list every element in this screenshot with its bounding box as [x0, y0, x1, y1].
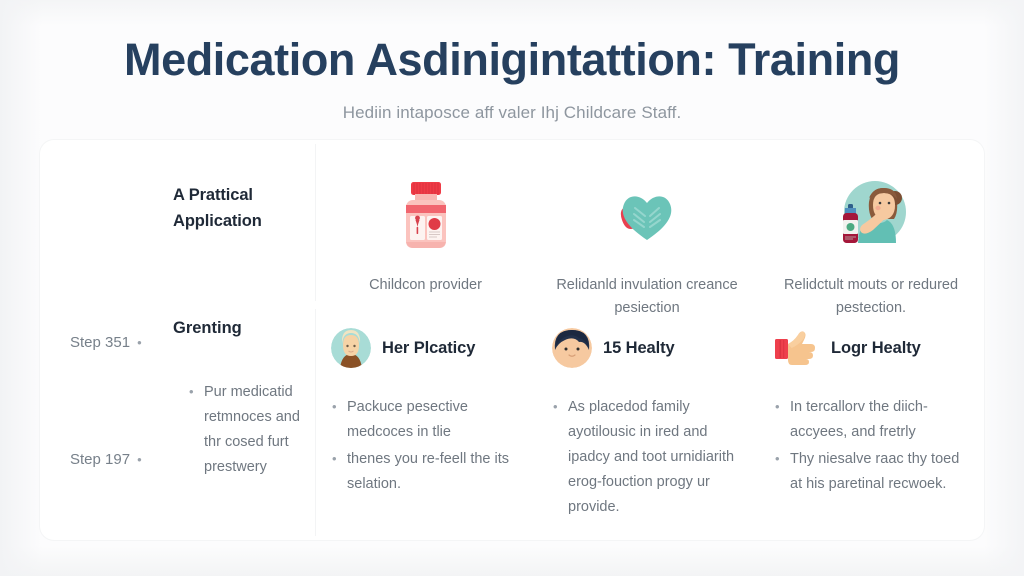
bullet-list-her-plcaticy: Packuce pesective medcoces in tlie thene… [331, 395, 520, 497]
cell-r2c2: Her Plcaticy Packuce pesective medcoces … [315, 305, 536, 540]
cell-r2c3: 15 Healty As placedod family ayotilousic… [536, 305, 758, 540]
dark-hair-child-avatar [552, 328, 592, 368]
cell-r2c4: Logr Healty In tercallorv the diich-accy… [758, 305, 984, 540]
heading-row-15-healty: 15 Healty [552, 327, 742, 369]
cell-r1c3: Relidanld invulation creance pesiection [536, 140, 758, 305]
column-heading-logr-healty: Logr Healty [831, 335, 921, 361]
list-item: Thy niesalve raac thy toed at his pareti… [774, 447, 968, 497]
step-label-top: Step 351 • [70, 331, 142, 355]
step-bullet-dot: • [137, 331, 142, 355]
page-title: Medication Asdinigintattion: Training [0, 30, 1024, 90]
cell-r2c1: Step 351 • Step 197 • Grenting Pur medic… [40, 305, 315, 540]
icon-block-medicine-bottle: Childcon provider [331, 156, 520, 297]
step-label-bottom: Step 197 • [70, 448, 142, 472]
bullet-list-15-healty: As placedod family ayotilousic in ired a… [552, 395, 742, 520]
column-heading-15-healty: 15 Healty [603, 335, 675, 361]
heart-hand-icon [605, 172, 689, 256]
content-grid: A Prattical Application [40, 140, 984, 540]
icon-block-woman-with-bottle: Relidctult mouts or redured pestection. [774, 156, 968, 320]
step-label-top-text: Step 351 [70, 331, 130, 355]
thumbs-up-icon [774, 328, 820, 368]
blond-person-avatar [331, 328, 371, 368]
icon-caption-childcon-provider: Childcon provider [369, 274, 482, 297]
list-item: As placedod family ayotilousic in ired a… [552, 395, 742, 520]
icon-block-heart-hand: Relidanld invulation creance pesiection [552, 156, 742, 320]
list-item: In tercallorv the diich-accyees, and fre… [774, 395, 968, 445]
heading-row-logr-healty: Logr Healty [774, 327, 968, 369]
column-heading-practical-application: A Prattical Application [173, 182, 299, 234]
medicine-bottle-icon [384, 172, 468, 256]
step-bullet-dot: • [137, 448, 142, 472]
step-label-bottom-text: Step 197 [70, 448, 130, 472]
cell-r1c1: A Prattical Application [40, 140, 315, 305]
woman-with-bottle-icon [829, 172, 913, 256]
cell-r1c2: Childcon provider [315, 140, 536, 305]
list-item: Packuce pesective medcoces in tlie [331, 395, 520, 445]
bullet-group-grenting: Pur medicatid retmnoces and thr cosed fu… [188, 380, 318, 482]
page-subtitle: Hediin intaposce aff valer Ihj Childcare… [0, 102, 1024, 124]
list-item: Pur medicatid retmnoces and thr cosed fu… [188, 380, 318, 480]
bullet-list-logr-healty: In tercallorv the diich-accyees, and fre… [774, 395, 968, 497]
slide-header: Medication Asdinigintattion: Training He… [0, 30, 1024, 124]
slide-canvas: Medication Asdinigintattion: Training He… [0, 0, 1024, 576]
cell-r1c4: Relidctult mouts or redured pestection. [758, 140, 984, 305]
column-heading-her-plcaticy: Her Plcaticy [382, 335, 475, 361]
list-item: thenes you re-feell the its selation. [331, 447, 520, 497]
bullet-list: Pur medicatid retmnoces and thr cosed fu… [188, 380, 318, 480]
heading-row-her-plcaticy: Her Plcaticy [331, 327, 520, 369]
column-heading-grenting: Grenting [173, 319, 242, 338]
